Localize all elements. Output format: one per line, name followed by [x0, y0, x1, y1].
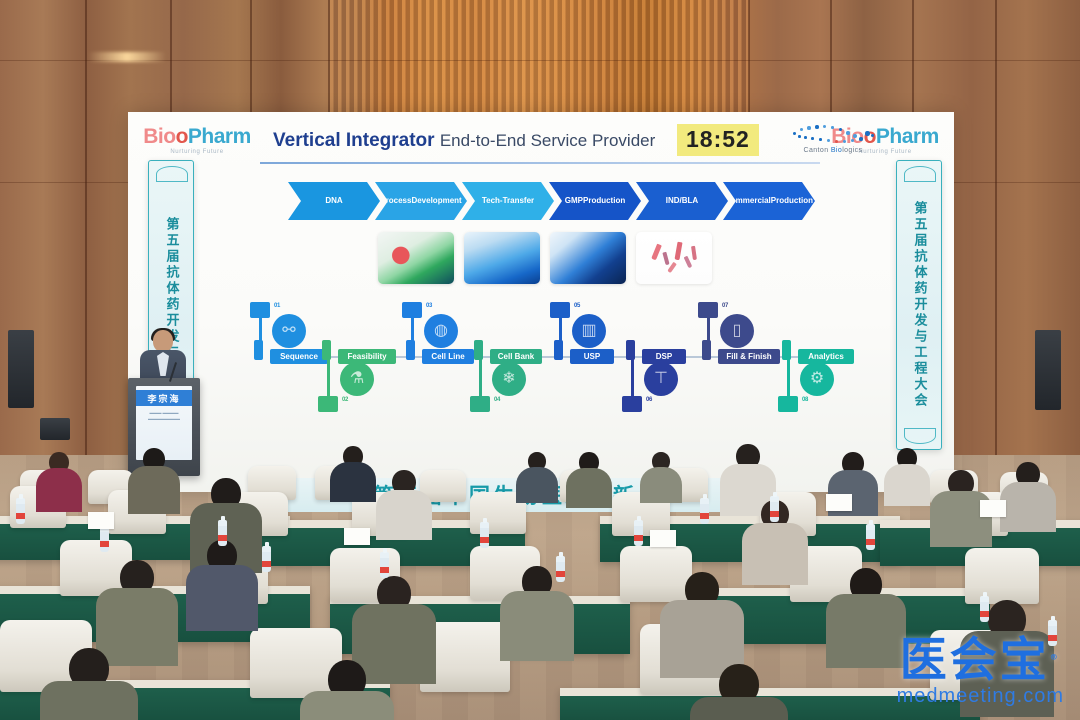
name-placard [650, 530, 676, 547]
speaker-head [153, 330, 173, 352]
audience-member [300, 660, 394, 720]
audience-member-body [36, 468, 82, 512]
pipetting-sample-photo [378, 232, 454, 284]
slide-title-rest: End-to-End Service Provider [440, 131, 655, 150]
water-bottle [700, 498, 709, 524]
photo-thumbnail-strip [378, 232, 708, 284]
node-foot [626, 340, 635, 360]
audience-member-body [826, 594, 906, 668]
audience-member [36, 452, 82, 516]
node-foot [554, 340, 563, 360]
audience-member [40, 648, 138, 720]
process-step-label: Production [771, 196, 813, 205]
service-node-diagram: ⚯Sequence01⚗Feasibility02◍Cell Line03❄Ce… [128, 300, 954, 435]
water-bottle [556, 556, 565, 582]
name-placard [88, 512, 114, 529]
node-cap [250, 302, 270, 318]
audience-chair [965, 548, 1039, 604]
process-step-6: CommercialProduction [723, 182, 815, 220]
wall-seam [995, 0, 997, 470]
process-step-label: Transfer [503, 196, 535, 205]
watermark-url-text: medmeeting.com [897, 685, 1064, 708]
audience-member [690, 664, 788, 720]
audience-member [640, 452, 682, 506]
node-badge: 02 [342, 397, 348, 403]
water-bottle [100, 526, 109, 552]
event-banner-right-text: 第五届抗体药开发与工程大会 [913, 201, 926, 409]
audience-member-body [742, 523, 808, 585]
wall-seam [85, 0, 87, 470]
audience-member-body [884, 464, 930, 506]
node-badge: 07 [722, 303, 728, 309]
process-step-label: Process [380, 196, 411, 205]
water-bottle [218, 520, 227, 546]
node-foot [702, 340, 711, 360]
analysis-icon: ⚙ [800, 362, 834, 396]
process-step-2: ProcessDevelopment [375, 182, 467, 220]
slide-title: Vertical Integrator End-to-End Service P… [273, 130, 655, 152]
vial-icon [651, 244, 662, 261]
water-bottle [380, 552, 389, 578]
vials-syringes-photo [636, 232, 712, 284]
water-bottle [634, 520, 643, 546]
audience-member-body [500, 591, 574, 661]
node-foot [782, 340, 791, 360]
projection-screen: BiooPharm Nurturing Future BiooPharm Nur… [128, 112, 954, 492]
ornament-icon [904, 428, 936, 444]
bioreactor-suite-photo [464, 232, 540, 284]
vial-icon [674, 242, 682, 261]
audience-member [1000, 462, 1056, 536]
process-step-1: DNA [288, 182, 380, 220]
audience-member [128, 448, 180, 518]
audience-member [186, 540, 258, 636]
water-bottle [262, 546, 271, 572]
conference-room-photo: BiooPharm Nurturing Future BiooPharm Nur… [0, 0, 1080, 720]
audience-member-body [566, 468, 612, 508]
process-step-label: IND/BLA [666, 196, 698, 205]
ornament-icon [156, 166, 188, 182]
process-step-label: Production [583, 196, 625, 205]
node-stem [327, 358, 330, 396]
audience-member-body [516, 467, 558, 503]
node-badge: 06 [646, 397, 652, 403]
vial-icon [684, 256, 693, 269]
name-placard [826, 494, 852, 511]
node-badge: 01 [274, 303, 280, 309]
node-stem [631, 358, 634, 396]
water-bottle [770, 496, 779, 522]
process-step-3: Tech-Transfer [462, 182, 554, 220]
event-banner-right: 第五届抗体药开发与工程大会 [896, 160, 942, 450]
node-glyph: ⚯ [282, 323, 295, 339]
watermark: 医会宝® medmeeting.com [897, 637, 1064, 708]
node-badge: 03 [426, 303, 432, 309]
audience-member [884, 448, 930, 510]
centrifuge-equipment-photo [550, 232, 626, 284]
water-bottle [480, 522, 489, 548]
countdown-timer: 18:52 [677, 124, 759, 156]
dna-icon: ⚯ [272, 314, 306, 348]
node-glyph: ❄ [502, 371, 515, 387]
node-cap [778, 396, 798, 412]
wall-light-strip [88, 52, 166, 62]
sponsor-name: Canton Biologics [778, 147, 888, 154]
node-label-dsp: DSP [642, 349, 686, 364]
node-cap [698, 302, 718, 318]
water-bottle [980, 596, 989, 622]
node-stem [479, 358, 482, 396]
audience-member-body [186, 565, 258, 631]
canton-biologics-logo: Canton Biologics [778, 120, 888, 164]
process-step-label: Commercial [725, 196, 771, 205]
name-placard [344, 528, 370, 545]
logo-pharm-text: Pharm [188, 125, 251, 148]
name-placard [980, 500, 1006, 517]
swoosh-icon [783, 120, 883, 146]
audience-member [566, 452, 612, 512]
process-step-5: IND/BLA [636, 182, 728, 220]
process-flow-chevrons: DNAProcessDevelopmentTech-TransferGMPPro… [288, 182, 808, 224]
column-icon: ⊤ [644, 362, 678, 396]
cryo-icon: ❄ [492, 362, 526, 396]
node-cap [550, 302, 570, 318]
node-foot [406, 340, 415, 360]
logo-tagline: Nurturing Future [142, 149, 252, 155]
node-glyph: ▥ [581, 323, 596, 339]
node-glyph: ⚙ [810, 371, 824, 387]
node-cap [622, 396, 642, 412]
node-cap [470, 396, 490, 412]
audience-member [376, 470, 432, 544]
audience-member-body [128, 466, 180, 514]
logo-o-text: o [176, 125, 188, 148]
pa-speaker [1035, 330, 1061, 410]
vial-bag-icon: ▯ [720, 314, 754, 348]
audience-member [826, 568, 906, 674]
node-label-usp: USP [570, 349, 614, 364]
node-label-feasibility: Feasibility [338, 349, 396, 364]
node-label-cell-bank: Cell Bank [490, 349, 542, 364]
node-badge: 04 [494, 397, 500, 403]
node-foot [474, 340, 483, 360]
audience-member-body [1000, 482, 1056, 532]
audience-member-body [640, 467, 682, 503]
audience-member [330, 446, 376, 506]
audience-member [516, 452, 558, 506]
av-equipment [40, 418, 70, 440]
node-badge: 08 [802, 397, 808, 403]
process-step-label: Development [411, 196, 461, 205]
vial-icon [691, 246, 697, 260]
node-glyph: ◍ [434, 323, 448, 339]
node-cap [318, 396, 338, 412]
node-badge: 05 [574, 303, 580, 309]
registered-mark: ® [1050, 652, 1061, 661]
node-stem [787, 358, 790, 396]
process-step-label: GMP [565, 196, 583, 205]
node-label-analytics: Analytics [798, 349, 854, 364]
node-glyph: ⊤ [654, 371, 668, 387]
audience-member-body [40, 681, 138, 720]
audience-member-body [690, 697, 788, 720]
node-glyph: ▯ [733, 323, 742, 339]
cell-icon: ◍ [424, 314, 458, 348]
node-cap [402, 302, 422, 318]
water-bottle [16, 498, 25, 524]
watermark-cn-text: 医会宝® [897, 637, 1064, 684]
process-step-4: GMPProduction [549, 182, 641, 220]
ornament-icon [904, 166, 936, 182]
vial-icon [662, 252, 669, 266]
node-foot [322, 340, 331, 360]
biopharm-logo-left: BiooPharm Nurturing Future [142, 126, 252, 155]
slide-title-bold: Vertical Integrator [273, 130, 435, 151]
header-divider [260, 162, 820, 164]
node-label-cell-line: Cell Line [422, 349, 474, 364]
water-bottle [866, 524, 875, 550]
process-step-label: DNA [325, 196, 342, 205]
process-step-label: Tech- [482, 196, 503, 205]
podium-subtext: ▬▬▬ ▬▬▬▬▬▬▬▬▬▬▬▬ [140, 410, 188, 422]
node-foot [254, 340, 263, 360]
flask-icon: ⚗ [340, 362, 374, 396]
audience-member-body [376, 490, 432, 540]
node-label-fill-finish: Fill & Finish [718, 349, 780, 364]
node-label-sequence: Sequence [270, 349, 328, 364]
bioreactor-icon: ▥ [572, 314, 606, 348]
pa-speaker [8, 330, 34, 408]
audience-member-body [330, 462, 376, 502]
slide-header: BiooPharm Nurturing Future BiooPharm Nur… [128, 112, 954, 168]
node-glyph: ⚗ [350, 371, 364, 387]
logo-bio-text: Bio [143, 125, 175, 148]
podium-speaker-name: 李宗海 [136, 390, 192, 406]
audience-member-body [300, 691, 394, 720]
